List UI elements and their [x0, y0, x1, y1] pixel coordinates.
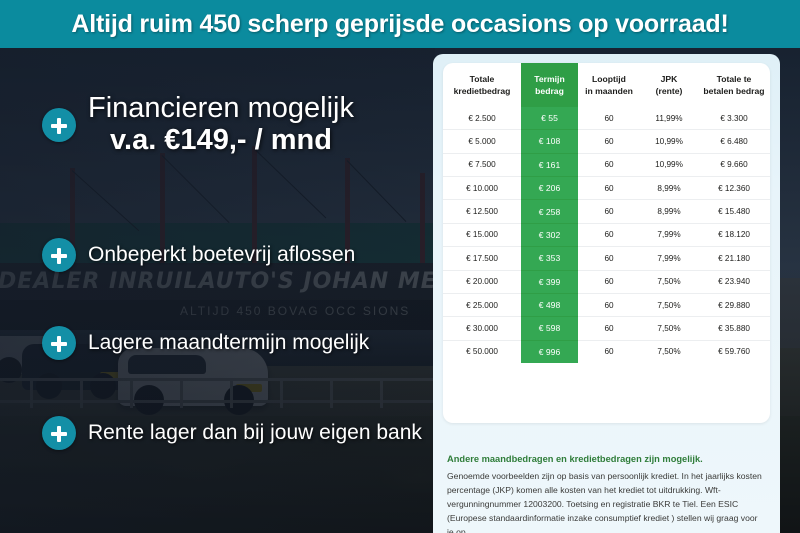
- col-header-credit-amount: Totale kredietbedrag: [443, 63, 521, 107]
- table-body: € 2.500€ 556011,99%€ 3.300€ 5.000€ 10860…: [443, 107, 770, 363]
- cell-credit-amount: € 12.500: [443, 200, 521, 223]
- feature-item-lower-interest-label: Rente lager dan bij jouw eigen bank: [88, 421, 422, 445]
- table-row: € 7.500€ 1616010,99%€ 9.660: [443, 153, 770, 176]
- cell-installment: € 302: [521, 223, 578, 246]
- table-header-row: Totale kredietbedrag Termijn bedrag Loop…: [443, 63, 770, 107]
- financing-table-container: Totale kredietbedrag Termijn bedrag Loop…: [443, 63, 770, 423]
- cell-installment: € 258: [521, 200, 578, 223]
- table-row: € 20.000€ 399607,50%€ 23.940: [443, 270, 770, 293]
- cell-duration: 60: [578, 247, 640, 270]
- feature-item-repayment: Onbeperkt boetevrij aflossen: [42, 238, 355, 272]
- cell-total: € 18.120: [698, 223, 770, 246]
- cell-apr: 7,99%: [640, 223, 698, 246]
- cell-duration: 60: [578, 317, 640, 340]
- cell-installment: € 206: [521, 177, 578, 200]
- cell-credit-amount: € 25.000: [443, 293, 521, 316]
- cell-credit-amount: € 15.000: [443, 223, 521, 246]
- col-header-total: Totale te betalen bedrag: [698, 63, 770, 107]
- table-row: € 5.000€ 1086010,99%€ 6.480: [443, 130, 770, 153]
- cell-credit-amount: € 7.500: [443, 153, 521, 176]
- plus-icon: [42, 416, 76, 450]
- feature-list: Financieren mogelijk v.a. €149,- / mnd O…: [0, 48, 435, 533]
- disclaimer-title: Andere maandbedragen en kredietbedragen …: [447, 454, 763, 464]
- cell-total: € 35.880: [698, 317, 770, 340]
- feature-item-repayment-label: Onbeperkt boetevrij aflossen: [88, 243, 355, 267]
- plus-icon: [42, 326, 76, 360]
- cell-duration: 60: [578, 153, 640, 176]
- cell-apr: 7,50%: [640, 293, 698, 316]
- cell-duration: 60: [578, 270, 640, 293]
- cell-total: € 12.360: [698, 177, 770, 200]
- cell-duration: 60: [578, 177, 640, 200]
- cell-installment: € 161: [521, 153, 578, 176]
- cell-apr: 7,50%: [640, 317, 698, 340]
- cell-total: € 59.760: [698, 340, 770, 363]
- cell-total: € 6.480: [698, 130, 770, 153]
- cell-installment: € 598: [521, 317, 578, 340]
- table-row: € 30.000€ 598607,50%€ 35.880: [443, 317, 770, 340]
- cell-apr: 10,99%: [640, 130, 698, 153]
- cell-installment: € 399: [521, 270, 578, 293]
- table-row: € 17.500€ 353607,99%€ 21.180: [443, 247, 770, 270]
- cell-total: € 23.940: [698, 270, 770, 293]
- cell-installment: € 108: [521, 130, 578, 153]
- plus-icon: [42, 108, 76, 142]
- disclaimer-note: Andere maandbedragen en kredietbedragen …: [447, 454, 763, 533]
- advertisement-banner: Altijd ruim 450 scherp geprijsde occasio…: [0, 0, 800, 533]
- table-row: € 10.000€ 206608,99%€ 12.360: [443, 177, 770, 200]
- cell-duration: 60: [578, 130, 640, 153]
- col-header-apr: JPK (rente): [640, 63, 698, 107]
- feature-item-financing-line1: Financieren mogelijk: [88, 93, 354, 124]
- cell-credit-amount: € 5.000: [443, 130, 521, 153]
- disclaimer-body: Genoemde voorbeelden zijn op basis van p…: [447, 470, 763, 533]
- feature-item-financing: Financieren mogelijk v.a. €149,- / mnd: [42, 93, 354, 158]
- plus-icon: [42, 238, 76, 272]
- cell-total: € 3.300: [698, 107, 770, 130]
- table-row: € 25.000€ 498607,50%€ 29.880: [443, 293, 770, 316]
- col-header-installment: Termijn bedrag: [521, 63, 578, 107]
- cell-installment: € 498: [521, 293, 578, 316]
- cell-apr: 11,99%: [640, 107, 698, 130]
- feature-item-lower-installment-label: Lagere maandtermijn mogelijk: [88, 331, 369, 355]
- cell-total: € 21.180: [698, 247, 770, 270]
- cell-credit-amount: € 30.000: [443, 317, 521, 340]
- table-row: € 2.500€ 556011,99%€ 3.300: [443, 107, 770, 130]
- table-row: € 15.000€ 302607,99%€ 18.120: [443, 223, 770, 246]
- cell-installment: € 996: [521, 340, 578, 363]
- cell-installment: € 353: [521, 247, 578, 270]
- cell-apr: 8,99%: [640, 177, 698, 200]
- cell-apr: 7,50%: [640, 340, 698, 363]
- header-banner-text: Altijd ruim 450 scherp geprijsde occasio…: [71, 10, 728, 39]
- table-row: € 50.000€ 996607,50%€ 59.760: [443, 340, 770, 363]
- cell-total: € 29.880: [698, 293, 770, 316]
- feature-item-financing-line2: v.a. €149,- / mnd: [88, 124, 354, 157]
- cell-credit-amount: € 17.500: [443, 247, 521, 270]
- cell-apr: 7,99%: [640, 247, 698, 270]
- table-row: € 12.500€ 258608,99%€ 15.480: [443, 200, 770, 223]
- cell-credit-amount: € 50.000: [443, 340, 521, 363]
- cell-duration: 60: [578, 223, 640, 246]
- cell-apr: 10,99%: [640, 153, 698, 176]
- cell-credit-amount: € 10.000: [443, 177, 521, 200]
- cell-duration: 60: [578, 340, 640, 363]
- cell-duration: 60: [578, 293, 640, 316]
- cell-credit-amount: € 2.500: [443, 107, 521, 130]
- cell-installment: € 55: [521, 107, 578, 130]
- feature-item-lower-installment: Lagere maandtermijn mogelijk: [42, 326, 369, 360]
- financing-table: Totale kredietbedrag Termijn bedrag Loop…: [443, 63, 770, 363]
- cell-apr: 8,99%: [640, 200, 698, 223]
- cell-total: € 9.660: [698, 153, 770, 176]
- cell-apr: 7,50%: [640, 270, 698, 293]
- header-banner: Altijd ruim 450 scherp geprijsde occasio…: [0, 0, 800, 48]
- financing-card: Totale kredietbedrag Termijn bedrag Loop…: [433, 54, 780, 533]
- cell-credit-amount: € 20.000: [443, 270, 521, 293]
- cell-duration: 60: [578, 200, 640, 223]
- feature-item-lower-interest: Rente lager dan bij jouw eigen bank: [42, 416, 422, 450]
- cell-duration: 60: [578, 107, 640, 130]
- cell-total: € 15.480: [698, 200, 770, 223]
- table-head: Totale kredietbedrag Termijn bedrag Loop…: [443, 63, 770, 107]
- col-header-duration: Looptijd in maanden: [578, 63, 640, 107]
